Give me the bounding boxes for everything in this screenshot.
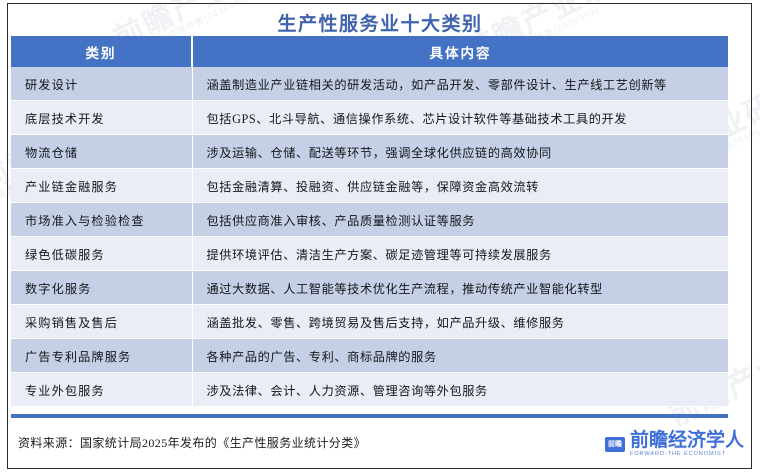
table-row: 专业外包服务涉及法律、会计、人力资源、管理咨询等外包服务 [11, 373, 728, 407]
logo-mark-icon: 前瞻 [605, 437, 625, 452]
table-row: 市场准入与检验检查包括供应商准入审核、产品质量检测认证等服务 [11, 203, 728, 237]
cell-content: 涉及法律、会计、人力资源、管理咨询等外包服务 [192, 373, 728, 407]
cell-content: 涵盖制造业产业链相关的研发活动，如产品开发、零部件设计、生产线工艺创新等 [192, 67, 728, 101]
cell-content: 包括供应商准入审核、产品质量检测认证等服务 [192, 203, 728, 237]
cell-category: 市场准入与检验检查 [11, 203, 192, 237]
logo-text: 前瞻经济学人 FORWARD-THE ECONOMIST [630, 431, 744, 458]
logo-subtitle: FORWARD-THE ECONOMIST [630, 452, 744, 458]
cell-category: 数字化服务 [11, 271, 192, 305]
cell-content: 通过大数据、人工智能等技术优化生产流程，推动传统产业智能化转型 [192, 271, 728, 305]
cell-category: 物流仓储 [11, 135, 192, 169]
cell-content: 包括GPS、北斗导航、通信操作系统、芯片设计软件等基础技术工具的开发 [192, 101, 728, 135]
logo-name: 前瞻经济学人 [630, 431, 744, 450]
page-title: 生产性服务业十大类别 [0, 9, 760, 36]
category-table-container: 类别 具体内容 研发设计涵盖制造业产业链相关的研发活动，如产品开发、零部件设计、… [11, 36, 728, 407]
cell-category: 底层技术开发 [11, 101, 192, 135]
table-bottom-accent-rule [11, 414, 728, 418]
cell-category: 研发设计 [11, 67, 192, 101]
brand-logo: 前瞻 前瞻经济学人 FORWARD-THE ECONOMIST [605, 428, 744, 460]
table-row: 采购销售及售后涵盖批发、零售、跨境贸易及售后支持，如产品升级、维修服务 [11, 305, 728, 339]
table-body: 研发设计涵盖制造业产业链相关的研发活动，如产品开发、零部件设计、生产线工艺创新等… [11, 67, 728, 407]
table-row: 产业链金融服务包括金融清算、投融资、供应链金融等，保障资金高效流转 [11, 169, 728, 203]
cell-category: 产业链金融服务 [11, 169, 192, 203]
table-header-row: 类别 具体内容 [11, 36, 728, 67]
cell-category: 采购销售及售后 [11, 305, 192, 339]
column-header-category: 类别 [11, 36, 192, 67]
table-row: 底层技术开发包括GPS、北斗导航、通信操作系统、芯片设计软件等基础技术工具的开发 [11, 101, 728, 135]
screenshot-root: 前瞻产业研究院 中国产业咨询领导者(2839599) 前瞻产业研究院 中国产业咨… [0, 0, 760, 472]
cell-content: 包括金融清算、投融资、供应链金融等，保障资金高效流转 [192, 169, 728, 203]
table-row: 数字化服务通过大数据、人工智能等技术优化生产流程，推动传统产业智能化转型 [11, 271, 728, 305]
table-row: 绿色低碳服务提供环境评估、清洁生产方案、碳足迹管理等可持续发展服务 [11, 237, 728, 271]
source-note: 资料来源：国家统计局2025年发布的《生产性服务业统计分类》 [18, 434, 366, 451]
cell-content: 各种产品的广告、专利、商标品牌的服务 [192, 339, 728, 373]
category-table: 类别 具体内容 研发设计涵盖制造业产业链相关的研发活动，如产品开发、零部件设计、… [11, 36, 728, 407]
table-row: 广告专利品牌服务各种产品的广告、专利、商标品牌的服务 [11, 339, 728, 373]
cell-category: 专业外包服务 [11, 373, 192, 407]
cell-category: 绿色低碳服务 [11, 237, 192, 271]
table-header: 类别 具体内容 [11, 36, 728, 67]
cell-content: 涉及运输、仓储、配送等环节，强调全球化供应链的高效协同 [192, 135, 728, 169]
table-row: 物流仓储涉及运输、仓储、配送等环节，强调全球化供应链的高效协同 [11, 135, 728, 169]
cell-content: 涵盖批发、零售、跨境贸易及售后支持，如产品升级、维修服务 [192, 305, 728, 339]
footer: 资料来源：国家统计局2025年发布的《生产性服务业统计分类》 前瞻 前瞻经济学人… [14, 428, 746, 464]
cell-content: 提供环境评估、清洁生产方案、碳足迹管理等可持续发展服务 [192, 237, 728, 271]
column-header-content: 具体内容 [192, 36, 728, 67]
cell-category: 广告专利品牌服务 [11, 339, 192, 373]
table-row: 研发设计涵盖制造业产业链相关的研发活动，如产品开发、零部件设计、生产线工艺创新等 [11, 67, 728, 101]
